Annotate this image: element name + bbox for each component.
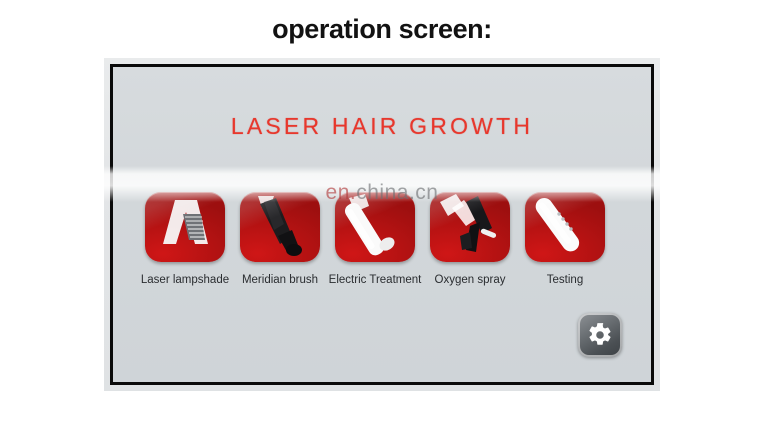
menu-icon-row: Laser lampshade Meridian brus: [145, 192, 637, 287]
menu-item-oxygen-spray[interactable]: Oxygen spray: [430, 192, 510, 287]
settings-button[interactable]: [578, 313, 622, 357]
menu-item-label: Laser lampshade: [141, 274, 229, 287]
device-bezel: LASER HAIR GROWTH: [104, 58, 660, 391]
screen-title: LASER HAIR GROWTH: [113, 113, 651, 140]
menu-item-laser-lampshade[interactable]: Laser lampshade: [145, 192, 225, 287]
page-title: operation screen:: [0, 14, 764, 45]
menu-item-label: Electric Treatment: [329, 274, 422, 287]
menu-item-electric-treatment[interactable]: Electric Treatment: [335, 192, 415, 287]
menu-item-label: Oxygen spray: [435, 274, 506, 287]
menu-item-testing[interactable]: Testing: [525, 192, 605, 287]
electric-treatment-wand-icon[interactable]: [335, 192, 415, 262]
device-screen: LASER HAIR GROWTH: [110, 64, 654, 385]
oxygen-spray-gun-icon[interactable]: [430, 192, 510, 262]
menu-item-label: Meridian brush: [242, 274, 318, 287]
menu-item-meridian-brush[interactable]: Meridian brush: [240, 192, 320, 287]
testing-probe-icon[interactable]: [525, 192, 605, 262]
menu-item-label: Testing: [547, 274, 583, 287]
laser-lampshade-icon[interactable]: [145, 192, 225, 262]
meridian-brush-icon[interactable]: [240, 192, 320, 262]
gear-icon: [587, 322, 613, 348]
